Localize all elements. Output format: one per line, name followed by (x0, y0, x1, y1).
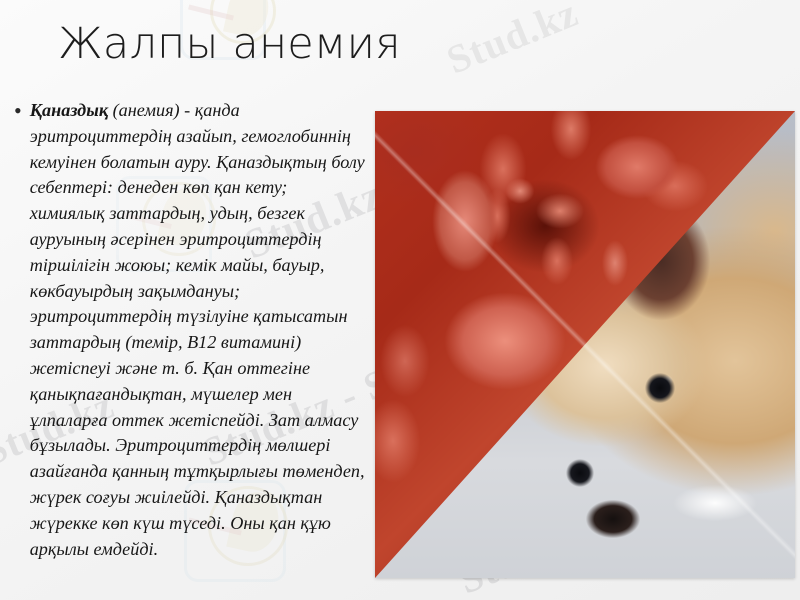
list-item: Қаназдық (анемия) - қанда эритроциттерді… (30, 98, 366, 562)
bullet-list: • Қаназдық (анемия) - қанда эритроциттер… (14, 98, 366, 562)
bullet-term: Қаназдық (30, 100, 108, 120)
watermark-text: Stud.kz (440, 0, 585, 84)
diagonal-seam (375, 111, 795, 578)
bullet-definition: (анемия) - қанда эритроциттердің азайып,… (30, 100, 365, 559)
bullet-marker: • (14, 98, 22, 562)
illustration-image (375, 111, 795, 578)
page-title: Жалпы анемия (58, 22, 401, 67)
